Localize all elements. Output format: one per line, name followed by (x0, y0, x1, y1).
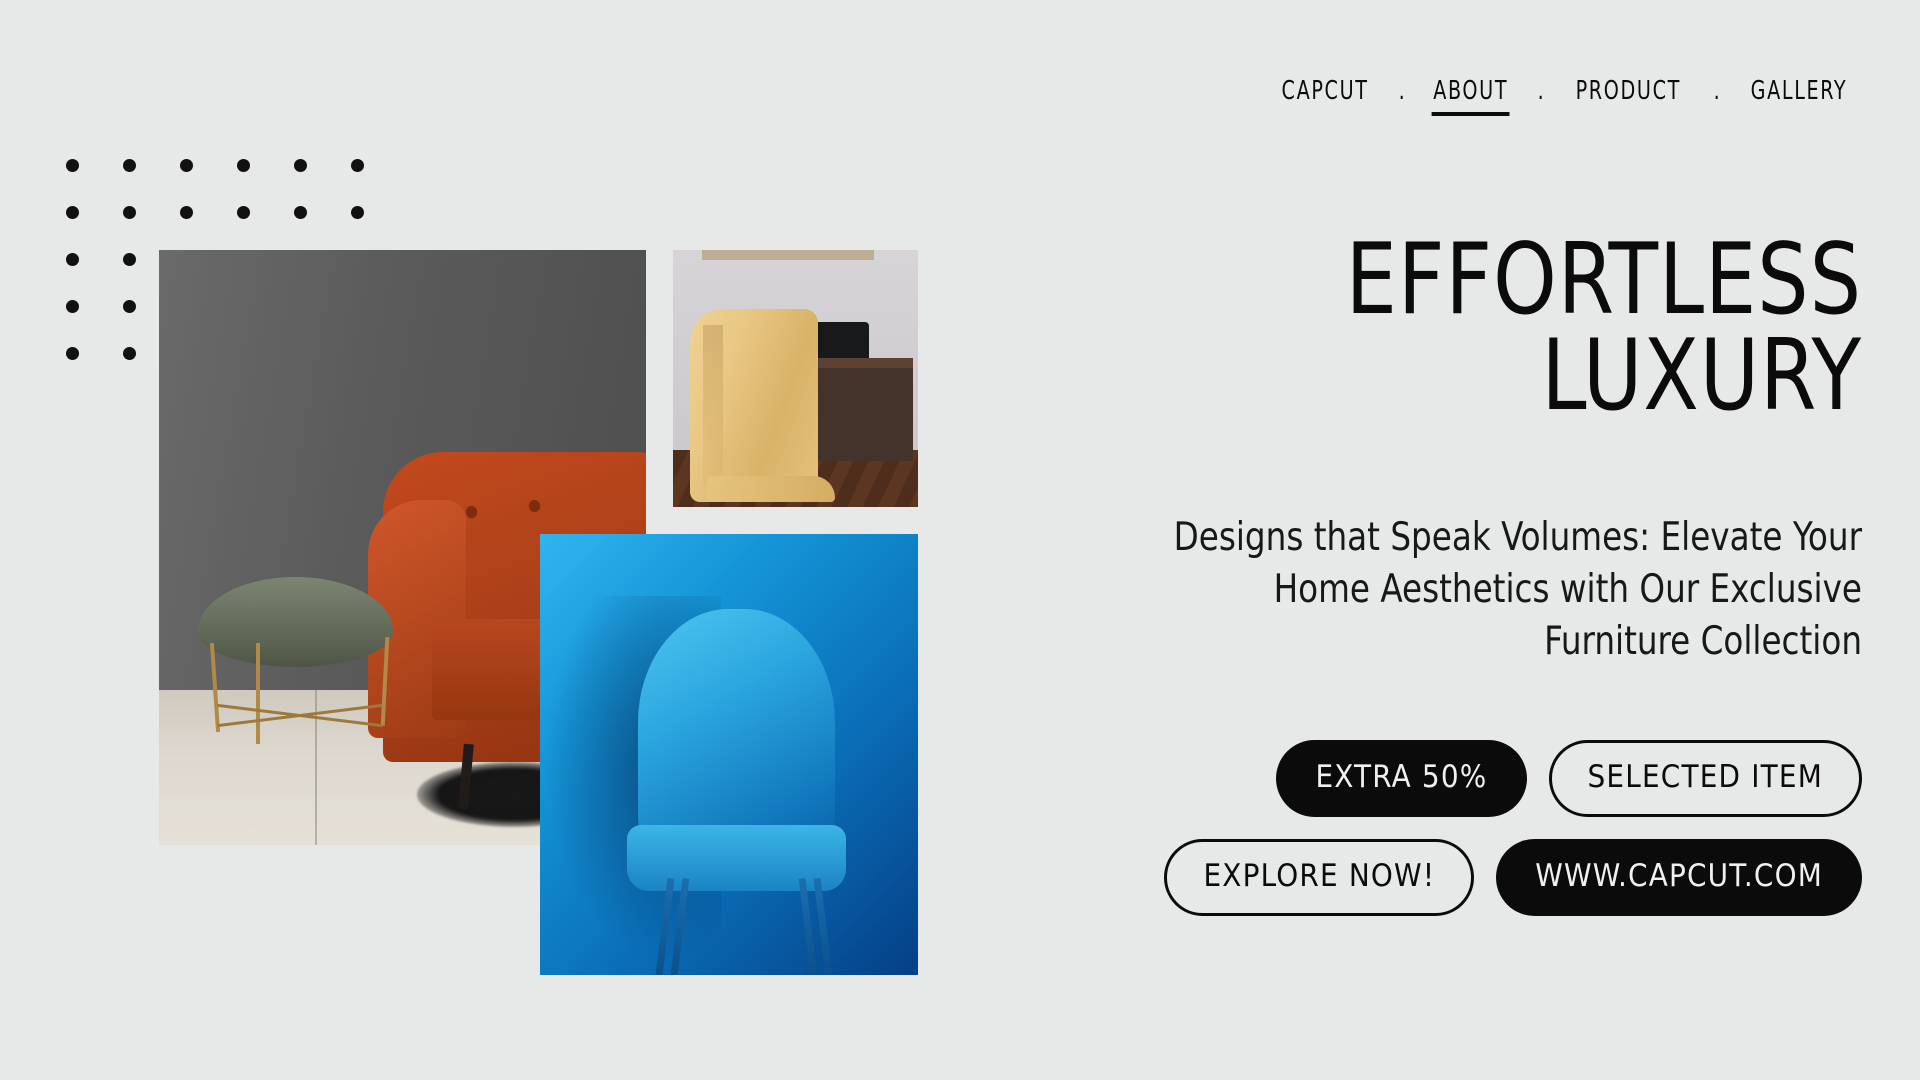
ceiling-trim (702, 250, 874, 260)
chair-backrest (638, 609, 835, 856)
hero-content: EFFORTLESS LUXURY Designs that Speak Vol… (1042, 0, 1862, 938)
yellow-throw (690, 309, 817, 502)
cta-row-2: EXPLORE NOW! WWW.CAPCUT.COM (1042, 839, 1862, 916)
headline-line-1: EFFORTLESS (1108, 232, 1862, 328)
sofa-tuft-button (529, 500, 540, 511)
chair-leg (813, 878, 833, 975)
page-title: EFFORTLESS LUXURY (1108, 232, 1862, 424)
hero-description: Designs that Speak Volumes: Elevate Your… (1099, 512, 1862, 668)
description-line-1: Designs that Speak Volumes: Elevate Your (1099, 512, 1862, 564)
ottoman-leg (256, 643, 260, 744)
website-button[interactable]: WWW.CAPCUT.COM (1496, 839, 1862, 916)
explore-now-button[interactable]: EXPLORE NOW! (1164, 839, 1474, 916)
sofa-tuft-button (466, 506, 477, 517)
image-yellow-throw-bench (673, 250, 918, 507)
image-blue-velvet-chair (540, 534, 918, 975)
headline-line-2: LUXURY (1108, 328, 1862, 424)
cta-button-group: EXTRA 50% SELECTED ITEM EXPLORE NOW! WWW… (1042, 740, 1862, 916)
image-collage (0, 0, 960, 1080)
yellow-throw-tail (707, 476, 834, 502)
cta-row-1: EXTRA 50% SELECTED ITEM (1042, 740, 1862, 817)
extra-discount-button[interactable]: EXTRA 50% (1276, 740, 1526, 817)
selected-item-button[interactable]: SELECTED ITEM (1549, 740, 1862, 817)
poster-canvas: CAPCUT . ABOUT . PRODUCT . GALLERY (0, 0, 1920, 1080)
description-line-2: Home Aesthetics with Our Exclusive (1099, 564, 1862, 616)
description-line-3: Furniture Collection (1099, 616, 1862, 668)
